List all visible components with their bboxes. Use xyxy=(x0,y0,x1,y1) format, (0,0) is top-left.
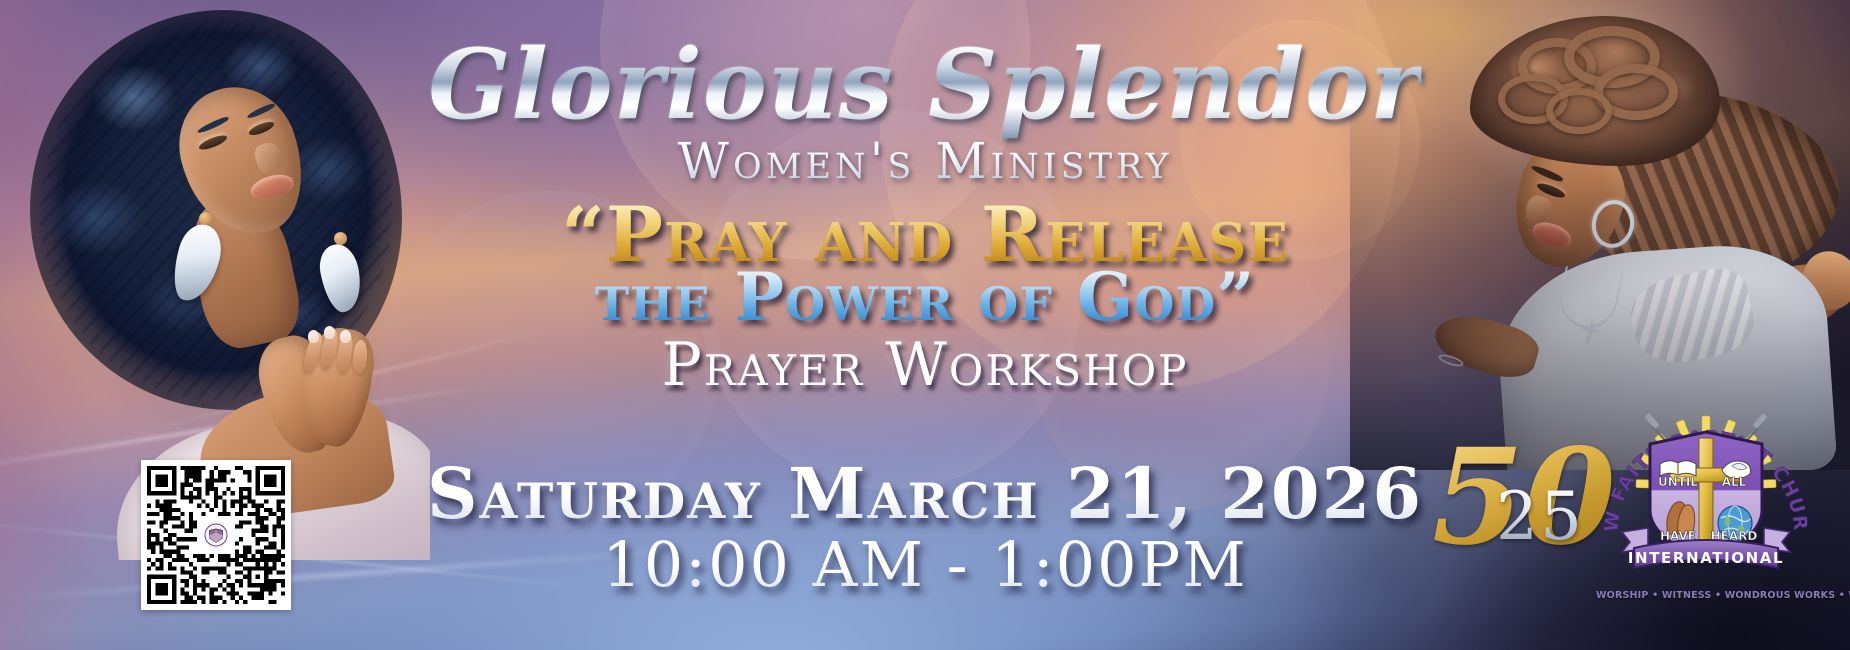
ministry-subtitle: Women's Ministry xyxy=(678,132,1173,190)
headline-blue-text: the Power of God xyxy=(595,258,1216,336)
church-crest-icon xyxy=(199,518,233,552)
headline-blue-line: the Power of God” xyxy=(595,258,1255,336)
qr-code[interactable] xyxy=(141,460,291,610)
workshop-label: Prayer Workshop xyxy=(662,330,1189,400)
open-bible-icon xyxy=(1660,461,1696,476)
church-logo[interactable]: NEW FAITH BAPTIST CHURCH xyxy=(1600,382,1812,582)
close-quote-mark: ” xyxy=(1216,258,1255,336)
event-flyer: Glorious Splendor Women's Ministry “Pray… xyxy=(0,0,1850,650)
anniversary-emblem: 50 25 xyxy=(1432,438,1582,578)
page-title: Glorious Splendor xyxy=(428,28,1421,141)
event-date: Saturday March 21, 2026 xyxy=(427,452,1423,535)
qr-code-matrix xyxy=(147,466,285,604)
shield-word-all: ALL xyxy=(1722,475,1747,489)
anniversary-silver-number: 25 xyxy=(1496,484,1584,550)
church-tagline: WORSHIP • WITNESS • WONDROUS WORKS • WOR… xyxy=(1596,590,1822,601)
banner-text: INTERNATIONAL xyxy=(1628,549,1784,567)
shield-word-until: UNTIL xyxy=(1658,475,1698,489)
event-time: 10:00 AM - 1:00PM xyxy=(602,528,1247,601)
